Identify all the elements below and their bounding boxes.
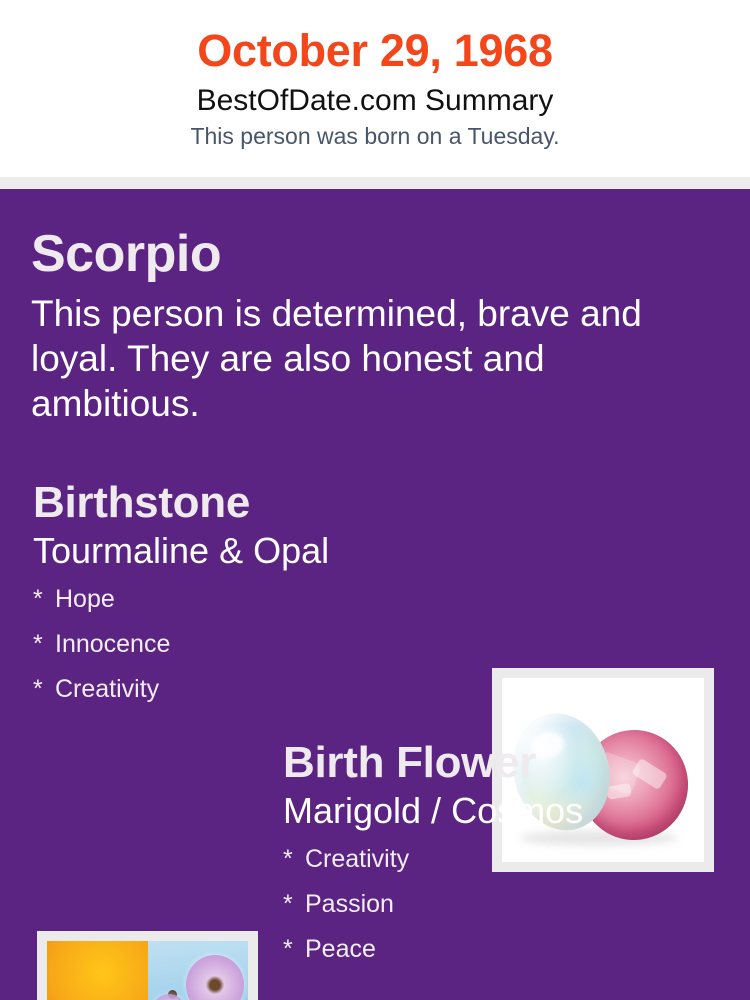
trait-label: Creativity [55,675,159,703]
birth-flower-image [47,941,248,1000]
header-divider [0,177,750,189]
asterisk-icon: * [33,622,55,667]
asterisk-icon: * [33,667,55,712]
list-item: *Peace [283,927,723,972]
birthstone-section: Birthstone Tourmaline & Opal *Hope *Inno… [33,477,463,712]
asterisk-icon: * [283,837,305,882]
header: October 29, 1968 BestOfDate.com Summary … [0,0,750,177]
birth-flower-heading: Birth Flower [283,737,723,789]
asterisk-icon: * [283,927,305,972]
trait-label: Creativity [305,845,409,873]
asterisk-icon: * [283,882,305,927]
zodiac-sign-title: Scorpio [31,225,221,283]
birthstone-trait-list: *Hope *Innocence *Creativity [33,577,463,712]
list-item: *Passion [283,882,723,927]
trait-label: Peace [305,935,376,963]
list-item: *Innocence [33,622,463,667]
cosmos-bloom [186,955,244,1000]
birthstone-heading: Birthstone [33,477,463,529]
trait-label: Passion [305,890,394,918]
birthstone-names: Tourmaline & Opal [33,529,463,573]
flower-artwork [47,941,248,1000]
summary-card: October 29, 1968 BestOfDate.com Summary … [0,0,750,1000]
list-item: *Creativity [33,667,463,712]
content-panel: Scorpio This person is determined, brave… [0,189,750,1000]
site-summary-label: BestOfDate.com Summary [0,80,750,119]
page-title: October 29, 1968 [0,0,750,80]
trait-label: Hope [55,585,115,613]
birth-flower-names: Marigold / Cosmos [283,789,723,833]
marigold-photo-half [47,941,148,1000]
birth-flower-section: Birth Flower Marigold / Cosmos *Creativi… [283,737,723,972]
asterisk-icon: * [33,577,55,622]
zodiac-description: This person is determined, brave and loy… [31,291,703,426]
birth-flower-trait-list: *Creativity *Passion *Peace [283,837,723,972]
list-item: *Creativity [283,837,723,882]
cosmos-bloom [152,994,186,1000]
birth-flower-image-frame [37,931,258,1000]
list-item: *Hope [33,577,463,622]
trait-label: Innocence [55,630,170,658]
birth-day-note: This person was born on a Tuesday. [0,119,750,150]
cosmos-photo-half [148,941,249,1000]
